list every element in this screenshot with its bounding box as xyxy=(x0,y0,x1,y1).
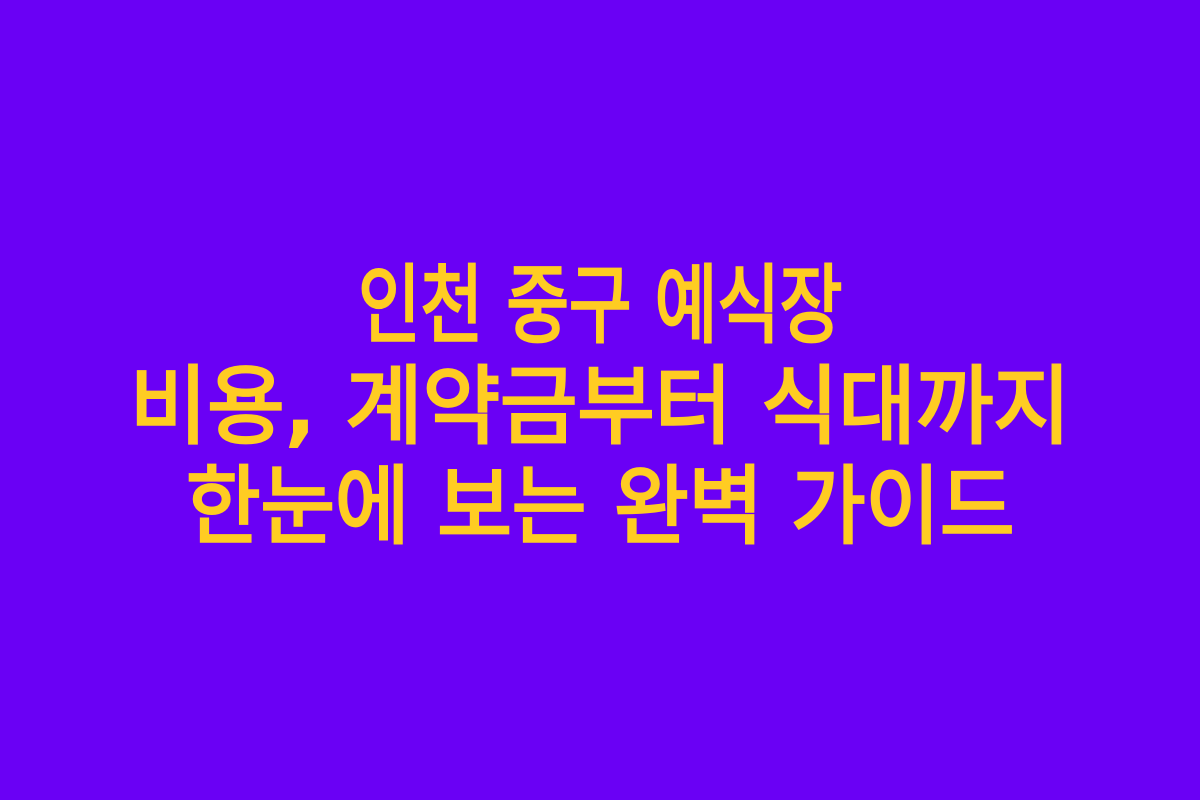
headline-text-block: 인천 중구 예식장 비용, 계약금부터 식대까지 한눈에 보는 완벽 가이드 xyxy=(20,256,1180,558)
headline-line-3: 한눈에 보는 완벽 가이드 xyxy=(60,457,1140,558)
headline-line-2: 비용, 계약금부터 식대까지 xyxy=(39,357,1161,458)
thumbnail-banner: 인천 중구 예식장 비용, 계약금부터 식대까지 한눈에 보는 완벽 가이드 xyxy=(0,0,1200,800)
headline-line-1: 인천 중구 예식장 xyxy=(147,256,1053,357)
